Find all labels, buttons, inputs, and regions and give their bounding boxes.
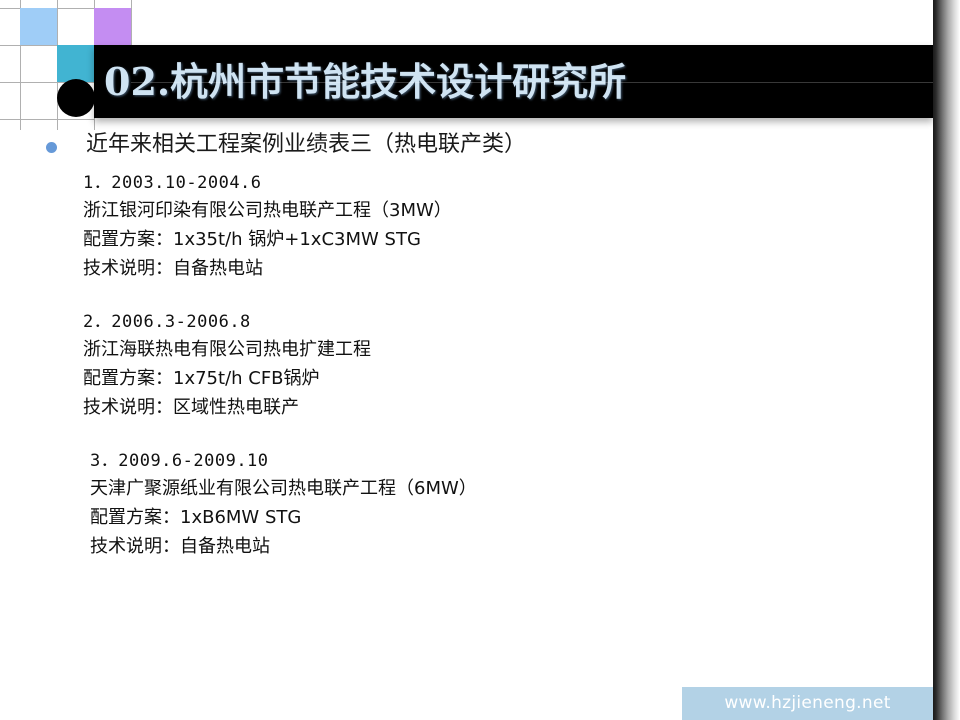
case-entry: 2．2006.3-2006.8 浙江海联热电有限公司热电扩建工程 配置方案：1x… bbox=[0, 309, 933, 422]
decorative-square-purple bbox=[94, 8, 131, 45]
case-period: 3．2009.6-2009.10 bbox=[90, 448, 933, 474]
case-configuration: 配置方案：1x35t/h 锅炉+1xC3MW STG bbox=[83, 225, 933, 254]
case-technical-note: 技术说明：自备热电站 bbox=[83, 254, 933, 283]
case-configuration: 配置方案：1x75t/h CFB锅炉 bbox=[83, 364, 933, 393]
case-project-name: 浙江银河印染有限公司热电联产工程（3MW） bbox=[83, 196, 933, 225]
decorative-square-light-blue bbox=[20, 8, 57, 45]
decorative-circle bbox=[57, 79, 95, 117]
case-configuration: 配置方案：1xB6MW STG bbox=[90, 503, 933, 532]
slide-body: 近年来相关工程案例业绩表三（热电联产类） 1．2003.10-2004.6 浙江… bbox=[0, 130, 933, 587]
grid-line-horizontal bbox=[0, 119, 94, 120]
slide-canvas: 02.杭州市节能技术设计研究所 近年来相关工程案例业绩表三（热电联产类） 1．2… bbox=[0, 0, 960, 720]
case-period: 1．2003.10-2004.6 bbox=[83, 170, 933, 196]
footer-watermark-bar: www.hzjieneng.net bbox=[682, 687, 933, 720]
case-entry: 3．2009.6-2009.10 天津广聚源纸业有限公司热电联产工程（6MW） … bbox=[0, 448, 933, 561]
section-heading-label: 近年来相关工程案例业绩表三（热电联产类） bbox=[86, 132, 526, 157]
case-technical-note: 技术说明：区域性热电联产 bbox=[83, 393, 933, 422]
section-heading: 近年来相关工程案例业绩表三（热电联产类） bbox=[0, 130, 933, 164]
footer-website-label: www.hzjieneng.net bbox=[682, 687, 933, 720]
slide-right-edge bbox=[933, 0, 960, 720]
case-technical-note: 技术说明：自备热电站 bbox=[90, 532, 933, 561]
case-project-name: 天津广聚源纸业有限公司热电联产工程（6MW） bbox=[90, 474, 933, 503]
case-project-name: 浙江海联热电有限公司热电扩建工程 bbox=[83, 335, 933, 364]
grid-line-vertical bbox=[131, 0, 132, 45]
decorative-square-teal bbox=[57, 45, 94, 82]
bullet-dot-icon bbox=[46, 142, 57, 153]
case-entry: 1．2003.10-2004.6 浙江银河印染有限公司热电联产工程（3MW） 配… bbox=[0, 170, 933, 283]
case-period: 2．2006.3-2006.8 bbox=[83, 309, 933, 335]
grid-line-horizontal bbox=[131, 82, 933, 83]
